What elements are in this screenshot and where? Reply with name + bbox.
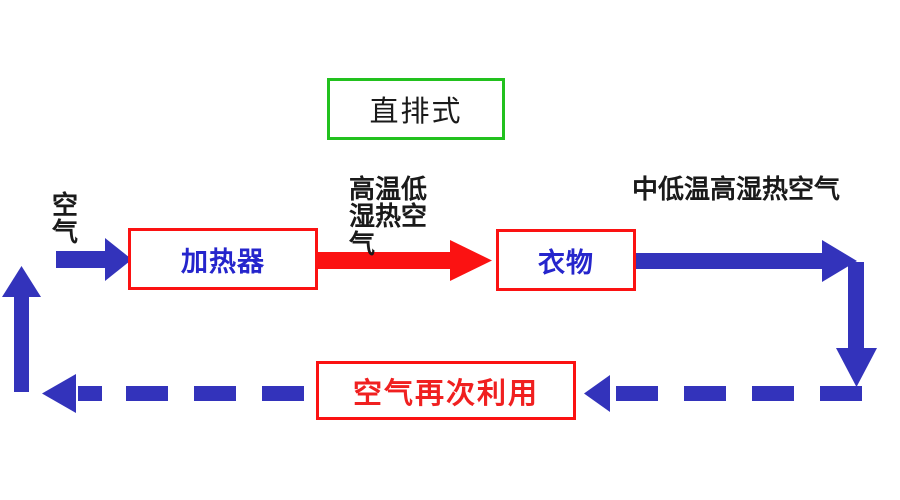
- node-heater-label: 加热器: [181, 240, 265, 279]
- clothes-outlet-arrow: [634, 240, 857, 282]
- return-left-dashed-arrow: [42, 374, 304, 413]
- node-heater[interactable]: 加热器: [128, 228, 318, 290]
- title-box: 直排式: [327, 78, 505, 140]
- node-air-reuse-label: 空气再次利用: [353, 370, 539, 412]
- title-label: 直排式: [369, 88, 462, 130]
- diagram-canvas: 直排式 加热器 衣物 空气再次利用 空 气 高温低 湿热空 气 中低温高湿热空气: [0, 0, 900, 500]
- exhaust-down-arrow: [836, 262, 877, 387]
- return-right-dashed-arrow: [584, 375, 862, 412]
- node-clothes-label: 衣物: [538, 241, 594, 280]
- edge-label-hot-dry-air: 高温低 湿热空 气: [349, 176, 455, 258]
- edge-label-air-inlet: 空 气: [52, 192, 98, 247]
- edge-label-warm-humid-air: 中低温高湿热空气: [632, 176, 840, 203]
- node-clothes[interactable]: 衣物: [496, 229, 636, 291]
- node-air-reuse[interactable]: 空气再次利用: [316, 361, 576, 420]
- riser-up-arrow: [2, 266, 41, 392]
